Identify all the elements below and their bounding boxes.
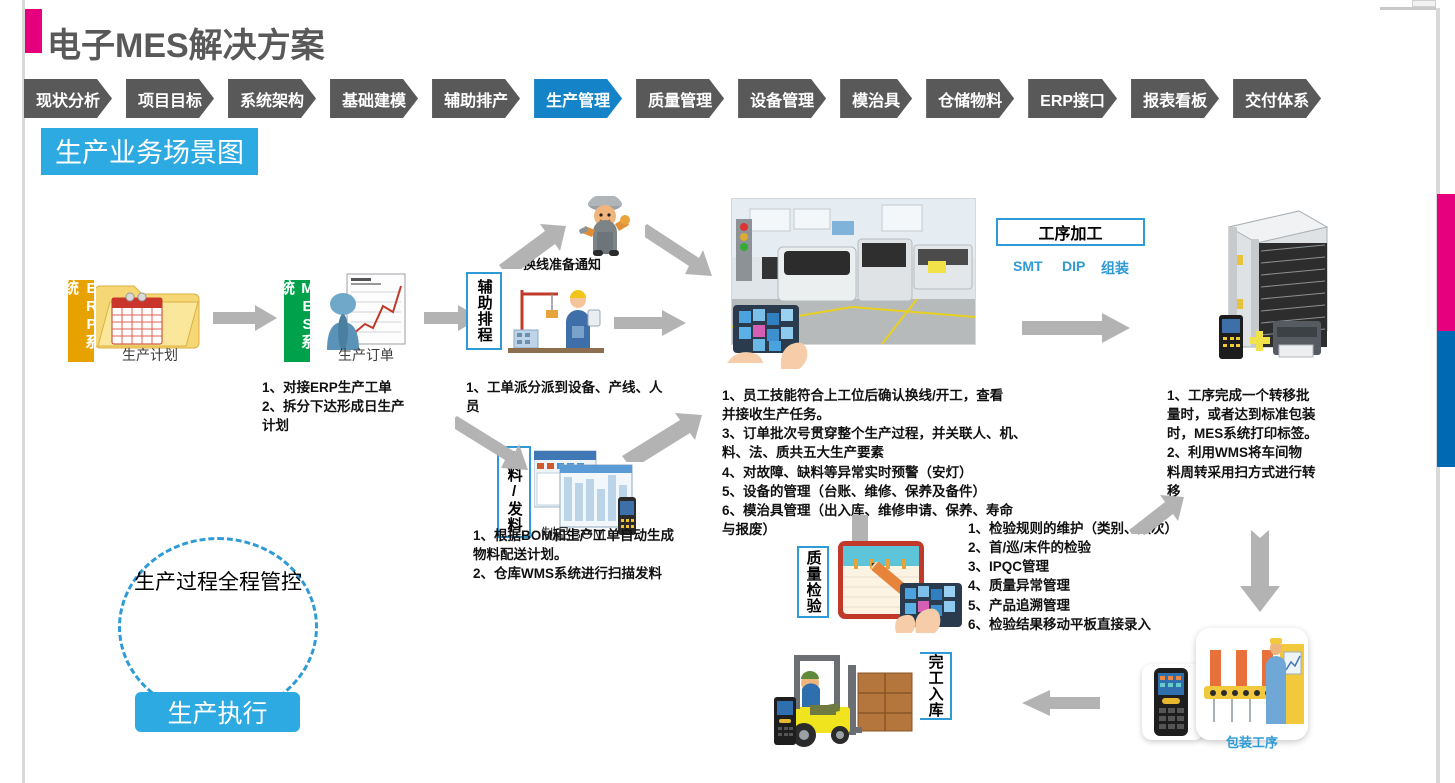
process-control-text: 生产过程全程管控 xyxy=(128,570,308,596)
magazine-rack-photo xyxy=(1215,203,1333,361)
nav-chevron-7[interactable]: 质量管理 xyxy=(636,79,724,118)
production-notes: 1、员工技能符合上工位后确认换线/开工，查看并接收生产任务。3、订单批次号贯穿整… xyxy=(722,386,1042,539)
quality-notes: 1、检验规则的维护（类别、频次）2、首/巡/末件的检验3、IPQC管理4、质量异… xyxy=(968,519,1218,634)
nav-chevron-label: 系统架构 xyxy=(240,87,304,111)
process-step-smt: SMT xyxy=(1013,258,1043,274)
section-title: 生产业务场景图 xyxy=(41,128,258,175)
nav-chevron-2[interactable]: 项目目标 xyxy=(126,79,214,118)
nav-chevron-label: 项目目标 xyxy=(138,87,202,111)
bom-notes: 1、根据BOM和生产工单自动生成物料配送计划。2、仓库WMS系统进行扫描发料 xyxy=(473,526,733,583)
nav-chevron-9[interactable]: 模治具 xyxy=(840,79,912,118)
arrow-quality-to-transfer xyxy=(1125,478,1185,534)
arrow-line-to-rack xyxy=(1022,313,1130,343)
quality-inspection-image xyxy=(838,541,970,633)
mes-notes: 1、对接ERP生产工单2、拆分下达形成日生产计划 xyxy=(262,378,442,435)
production-order-caption: 生产订单 xyxy=(338,345,394,365)
forklift-image xyxy=(772,645,920,755)
process-box: 工序加工 xyxy=(996,218,1145,246)
nav-chevron-label: 基础建模 xyxy=(342,87,406,111)
top-frame-line xyxy=(1380,7,1436,10)
accent-bar-right-pink xyxy=(1437,194,1455,331)
nav-chevron-label: 现状分析 xyxy=(36,87,100,111)
nav-chevron-label: ERP接口 xyxy=(1040,87,1105,111)
nav-chevron-label: 仓储物料 xyxy=(938,87,1002,111)
nav-chevron-label: 设备管理 xyxy=(750,87,814,111)
process-step-dip: DIP xyxy=(1062,258,1085,274)
mes-system-tag: MES系统 xyxy=(284,280,310,362)
nav-chevron-label: 模治具 xyxy=(852,87,900,111)
production-order-image xyxy=(313,272,409,354)
transfer-notes: 1、工序完成一个转移批量时，或者达到标准包装时，MES系统打印标签。2、利用WM… xyxy=(1167,386,1347,501)
nav-chevron-6[interactable]: 生产管理 xyxy=(534,79,622,118)
changeover-worker-image xyxy=(575,196,637,256)
arrow-aux-to-line xyxy=(614,310,686,336)
nav-chevron-label: 辅助排产 xyxy=(444,87,508,111)
tablet-hand-image xyxy=(727,303,823,369)
top-right-marker xyxy=(1412,0,1436,7)
nav-chevron-8[interactable]: 设备管理 xyxy=(738,79,826,118)
chevron-navigation: 现状分析项目目标系统架构基础建模辅助排产生产管理质量管理设备管理模治具仓储物料E… xyxy=(24,79,1335,118)
arrow-material-to-production xyxy=(620,400,712,462)
quality-inspection-box: 质量检验 xyxy=(797,546,829,618)
nav-chevron-10[interactable]: 仓储物料 xyxy=(926,79,1014,118)
scheduling-worker-image xyxy=(508,286,604,356)
slide-canvas: 电子MES解决方案 现状分析项目目标系统架构基础建模辅助排产生产管理质量管理设备… xyxy=(0,0,1455,783)
nav-chevron-1[interactable]: 现状分析 xyxy=(24,79,112,118)
nav-chevron-label: 报表看板 xyxy=(1143,87,1207,111)
nav-chevron-4[interactable]: 基础建模 xyxy=(330,79,418,118)
aux-scheduling-box: 辅助排程 xyxy=(466,272,502,350)
packaging-caption: 包装工序 xyxy=(1216,732,1288,751)
nav-chevron-label: 质量管理 xyxy=(648,87,712,111)
arrow-erp-to-mes xyxy=(213,305,277,331)
nav-chevron-13[interactable]: 交付体系 xyxy=(1233,79,1321,118)
arrow-aux-to-material xyxy=(455,410,547,472)
page-title: 电子MES解决方案 xyxy=(47,18,325,67)
pda-scanner-card xyxy=(1142,664,1204,740)
production-plan-image xyxy=(96,272,204,354)
warehouse-entry-box: 完工入库 xyxy=(918,652,952,720)
nav-chevron-5[interactable]: 辅助排产 xyxy=(432,79,520,118)
arrow-packaging-to-warehouse xyxy=(1022,690,1100,716)
nav-chevron-12[interactable]: 报表看板 xyxy=(1131,79,1219,118)
nav-chevron-3[interactable]: 系统架构 xyxy=(228,79,316,118)
arrow-aux-to-changeover xyxy=(497,213,573,269)
nav-chevron-label: 生产管理 xyxy=(546,87,610,111)
nav-chevron-11[interactable]: ERP接口 xyxy=(1028,79,1117,118)
nav-chevron-label: 交付体系 xyxy=(1245,87,1309,111)
process-step-assembly: 组装 xyxy=(1101,258,1129,278)
erp-system-tag: ERP系统 xyxy=(68,280,94,362)
production-plan-caption: 生产计划 xyxy=(122,345,178,365)
accent-bar-right-blue xyxy=(1437,331,1455,467)
arrow-transfer-to-packaging xyxy=(1240,530,1280,616)
arrow-changeover-to-line xyxy=(645,218,731,280)
accent-bar-left xyxy=(25,9,42,53)
process-control-circle xyxy=(118,537,318,717)
packaging-process-image xyxy=(1196,628,1308,740)
production-execution-button[interactable]: 生产执行 xyxy=(135,692,300,732)
